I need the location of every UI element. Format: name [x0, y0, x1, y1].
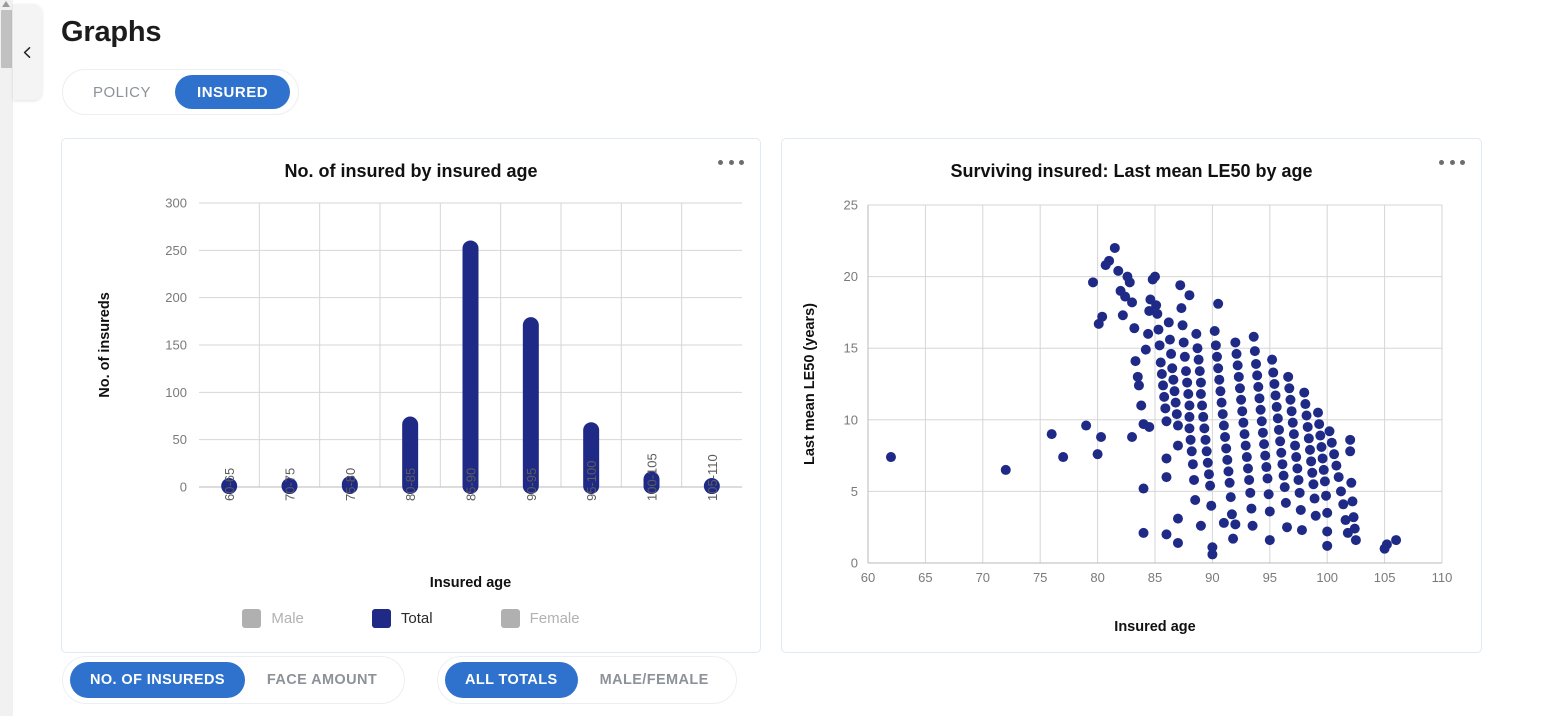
button-male-female[interactable]: MALE/FEMALE — [580, 662, 729, 698]
chart-title-left: No. of insured by insured age — [62, 161, 760, 182]
y-tick-label: 100 — [165, 385, 187, 400]
x-tick-label: 105-110 — [705, 454, 720, 501]
y-tick-label: 150 — [165, 338, 187, 353]
x-axis-title: Insured age — [1114, 619, 1195, 635]
legend-label-male: Male — [271, 610, 304, 627]
y-tick-label: 20 — [844, 269, 858, 284]
scatter-chart-surviving-le50: 05101520256065707580859095100105110Insur… — [782, 185, 1483, 685]
scrollbar-thumb[interactable] — [1, 10, 12, 68]
x-tick-label: 100 — [1316, 570, 1338, 585]
graphs-page: Graphs POLICY INSURED No. of insured by … — [0, 0, 1547, 716]
x-tick-label: 60 — [861, 570, 875, 585]
y-tick-label: 0 — [851, 556, 858, 571]
y-axis-title: No. of insureds — [97, 292, 113, 398]
page-title: Graphs — [61, 16, 161, 49]
legend-item-female[interactable]: Female — [501, 609, 580, 628]
y-tick-label: 50 — [173, 432, 187, 447]
y-tick-label: 5 — [851, 484, 858, 499]
x-tick-label: 70 — [976, 570, 990, 585]
x-tick-label: 65 — [918, 570, 932, 585]
x-tick-label: 105 — [1374, 570, 1396, 585]
view-tabs: POLICY INSURED — [62, 69, 299, 115]
legend-item-male[interactable]: Male — [242, 609, 304, 628]
legend-swatch-female — [501, 609, 520, 628]
legend-swatch-total — [372, 609, 391, 628]
scatter-points[interactable] — [886, 243, 1401, 559]
x-tick-label: 80-85 — [403, 468, 418, 501]
x-tick-label: 90-95 — [524, 468, 539, 501]
legend-swatch-male — [242, 609, 261, 628]
y-axis-title: Last mean LE50 (years) — [802, 303, 818, 465]
button-face-amount[interactable]: FACE AMOUNT — [247, 662, 397, 698]
x-axis-title: Insured age — [430, 575, 511, 591]
y-tick-label: 10 — [844, 412, 858, 427]
chevron-left-icon — [21, 46, 34, 59]
chart-card-insured-by-age: No. of insured by insured age 0501001502… — [61, 138, 761, 653]
x-tick-label: 70-75 — [283, 468, 298, 501]
legend-label-female: Female — [530, 610, 580, 627]
button-all-totals[interactable]: ALL TOTALS — [445, 662, 578, 698]
bar-chart-insured-by-age: 05010015020025030060-6570-7575-8080-8585… — [62, 185, 762, 605]
x-tick-label: 85-90 — [464, 468, 479, 501]
x-tick-label: 75-80 — [343, 468, 358, 501]
y-tick-label: 0 — [180, 480, 187, 495]
x-tick-label: 75 — [1033, 570, 1047, 585]
kebab-menu-icon[interactable] — [1439, 154, 1465, 170]
y-tick-label: 250 — [165, 243, 187, 258]
y-tick-label: 200 — [165, 290, 187, 305]
x-tick-label: 110 — [1432, 570, 1453, 585]
x-tick-label: 100-105 — [645, 453, 660, 501]
metric-toggle-group: NO. OF INSUREDS FACE AMOUNT — [62, 656, 405, 704]
y-tick-label: 15 — [844, 341, 858, 356]
x-tick-label: 95 — [1263, 570, 1277, 585]
kebab-menu-icon[interactable] — [718, 154, 744, 170]
x-tick-label: 95-100 — [584, 461, 599, 501]
x-tick-label: 80 — [1090, 570, 1104, 585]
tab-policy[interactable]: POLICY — [71, 75, 173, 109]
x-tick-label: 60-65 — [222, 468, 237, 501]
scrollbar-up-arrow-icon[interactable] — [2, 1, 10, 7]
x-tick-label: 85 — [1148, 570, 1162, 585]
chart-title-right: Surviving insured: Last mean LE50 by age — [782, 161, 1481, 182]
legend-label-total: Total — [401, 610, 433, 627]
chart-card-surviving-le50: Surviving insured: Last mean LE50 by age… — [781, 138, 1482, 653]
page-scrollbar[interactable] — [0, 0, 13, 716]
y-tick-label: 25 — [844, 198, 858, 213]
y-tick-label: 300 — [165, 196, 187, 211]
split-toggle-group: ALL TOTALS MALE/FEMALE — [437, 656, 737, 704]
sidebar-collapse-button[interactable] — [13, 4, 42, 100]
x-tick-label: 90 — [1205, 570, 1219, 585]
tab-insured[interactable]: INSURED — [175, 75, 290, 109]
legend-item-total[interactable]: Total — [372, 609, 433, 628]
button-no-of-insureds[interactable]: NO. OF INSUREDS — [70, 662, 245, 698]
chart-legend-left: Male Total Female — [62, 609, 760, 628]
